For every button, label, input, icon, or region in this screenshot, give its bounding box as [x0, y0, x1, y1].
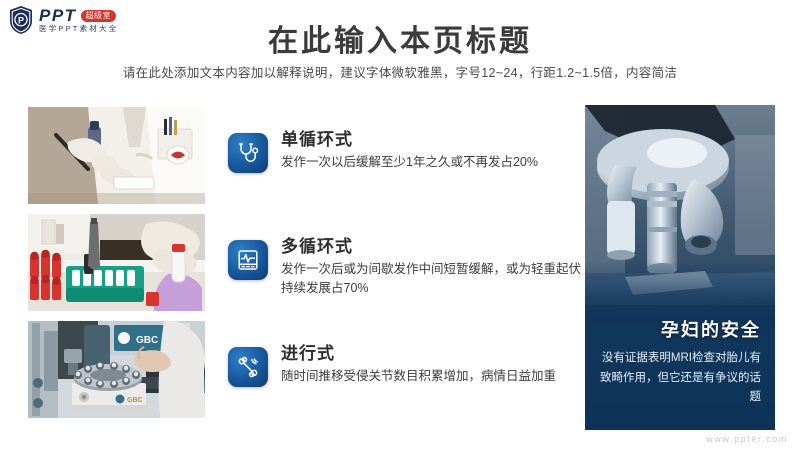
- blood-sample-tubes-rack-photo: [28, 214, 205, 311]
- row-thumbnail[interactable]: GBC GBC: [28, 321, 205, 418]
- page-title: 在此输入本页标题: [0, 16, 800, 60]
- panel-title: 孕妇的安全: [595, 316, 761, 342]
- ecg-monitor-icon: [228, 240, 268, 280]
- row-heading: 单循环式: [281, 125, 353, 150]
- content-row: 单循环式 发作一次以后缓解至少1年之久或不再发占20%: [28, 107, 568, 204]
- panel-body-text: 没有证据表明MRI检查对胎儿有致畸作用，但它还是有争议的话题: [597, 349, 761, 408]
- row-description: 随时间推移受侵关节数目积累增加，病情日益加重: [281, 367, 581, 386]
- row-thumbnail[interactable]: [28, 107, 205, 204]
- bone-joint-icon: [228, 347, 268, 387]
- row-heading: 进行式: [281, 339, 335, 364]
- lab-technician-with-pipette-photo: [28, 107, 205, 204]
- highlight-panel[interactable]: 孕妇的安全 没有证据表明MRI检查对胎儿有致畸作用，但它还是有争议的话题: [585, 105, 775, 430]
- content-row: 多循环式 发作一次后或为间歇发作中间短暂缓解，或为轻重起伏持续发展占70%: [28, 214, 568, 311]
- site-watermark: www.ppter.com: [706, 434, 788, 444]
- row-description: 发作一次以后缓解至少1年之久或不再发占20%: [281, 153, 581, 172]
- row-thumbnail[interactable]: [28, 214, 205, 311]
- stethoscope-icon: [228, 133, 268, 173]
- row-heading: 多循环式: [281, 232, 353, 257]
- lab-autosampler-carousel-photo: GBC GBC: [28, 321, 205, 418]
- page-subtitle: 请在此处添加文本内容加以解释说明，建议字体微软雅黑，字号12~24，行距1.2~…: [0, 62, 800, 81]
- row-description: 发作一次后或为间歇发作中间短暂缓解，或为轻重起伏持续发展占70%: [281, 260, 581, 299]
- content-row: GBC GBC: [28, 321, 568, 418]
